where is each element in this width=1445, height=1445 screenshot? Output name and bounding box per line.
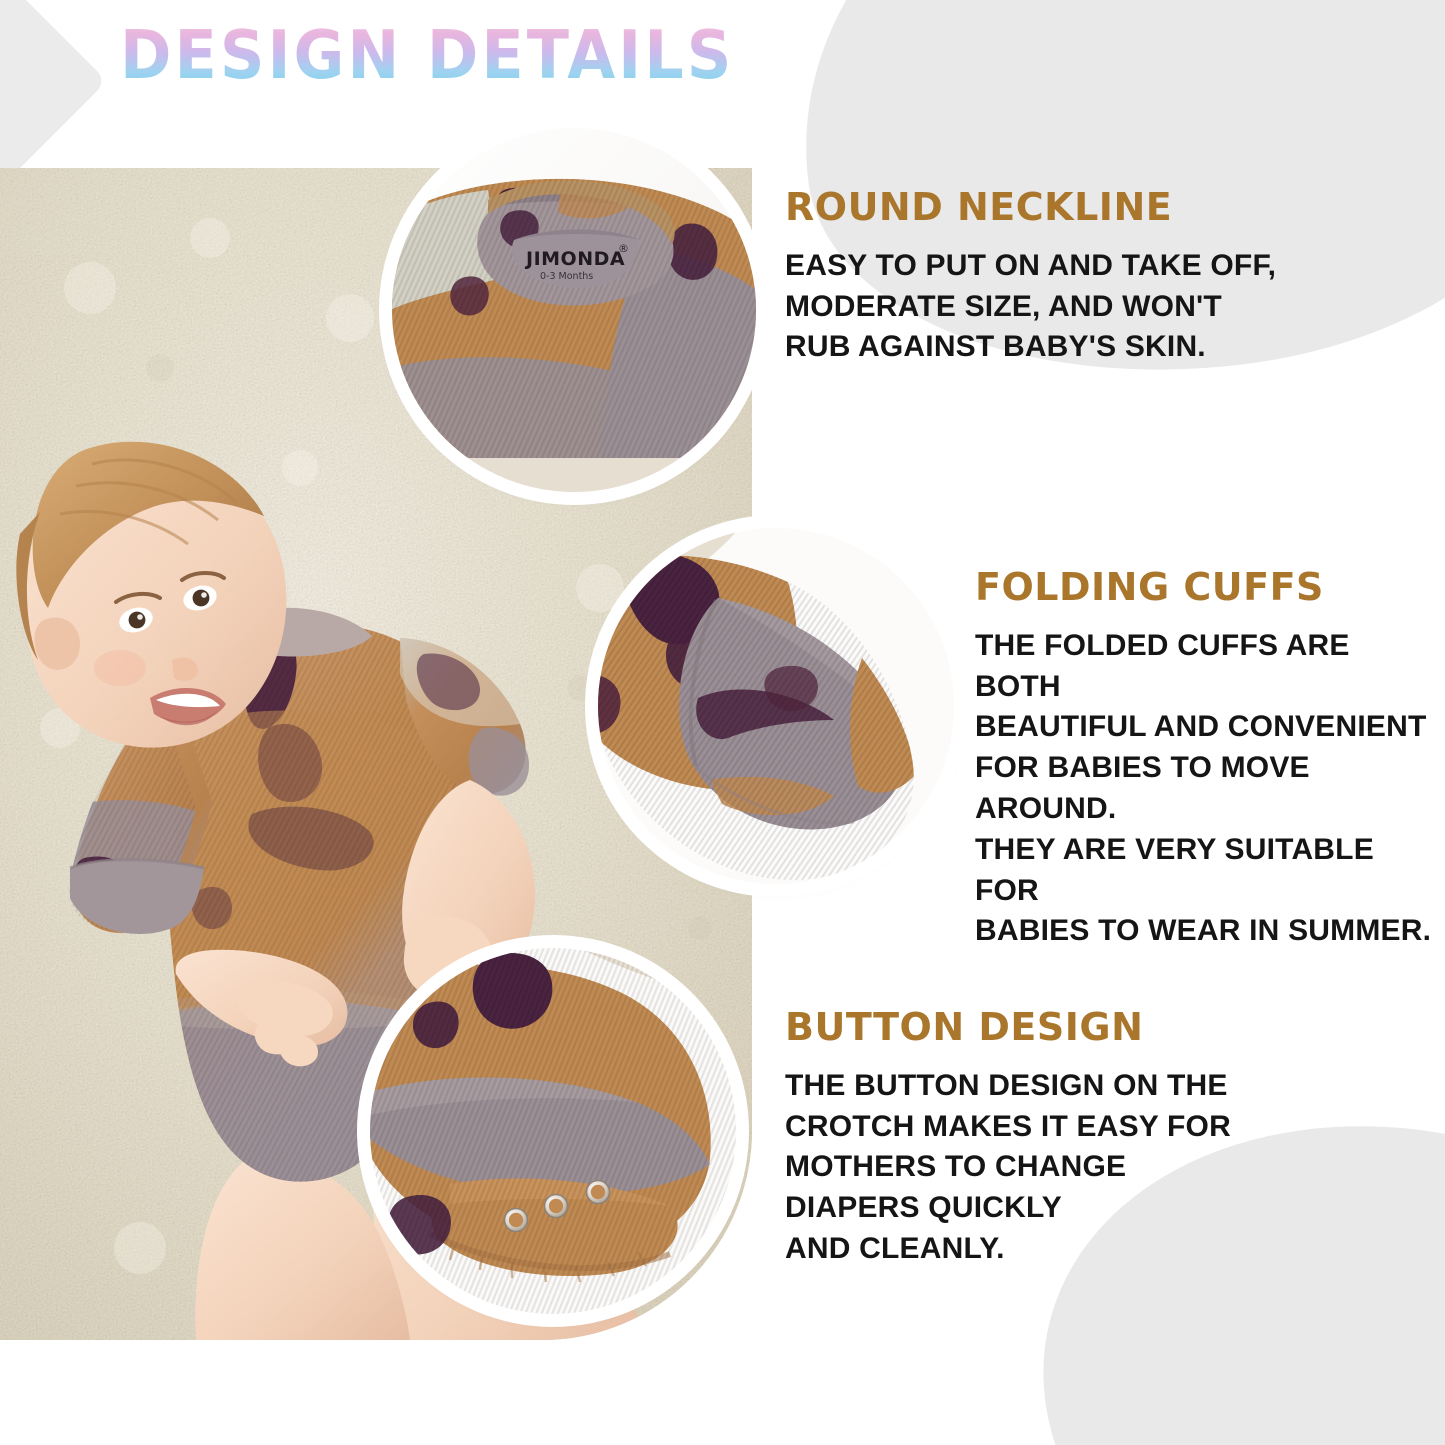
detail-circle-folding-cuffs [598,528,954,884]
button-illustration [370,948,736,1314]
cuff-illustration [598,528,954,884]
feature-body-folding-cuffs: THE FOLDED CUFFS ARE BOTH BEAUTIFUL AND … [975,626,1435,952]
feature-line: DIAPERS QUICKLY [785,1188,1255,1229]
feature-title-button-design: BUTTON DESIGN [785,1008,1255,1048]
feature-line: RUB AGAINST BABY'S SKIN. [785,327,1305,368]
feature-line: BEAUTIFUL AND CONVENIENT [975,707,1435,748]
brand-name: JIMONDA [524,248,625,270]
feature-line: THE BUTTON DESIGN ON THE [785,1066,1255,1107]
feature-button-design: BUTTON DESIGN THE BUTTON DESIGN ON THE C… [785,1008,1255,1270]
blob-left-diamond [0,0,107,187]
detail-circle-button-design [370,948,736,1314]
feature-title-round-neckline: ROUND NECKLINE [785,188,1305,228]
neckline-illustration: JIMONDA ® 0-3 Months [392,128,756,492]
feature-body-button-design: THE BUTTON DESIGN ON THE CROTCH MAKES IT… [785,1066,1255,1270]
infographic-stage: JIMONDA ® 0-3 Months [0,0,1445,1445]
feature-line: MODERATE SIZE, AND WON'T [785,287,1305,328]
brand-registered-mark: ® [618,242,629,255]
feature-line: BABIES TO WEAR IN SUMMER. [975,911,1435,952]
feature-folding-cuffs: FOLDING CUFFS THE FOLDED CUFFS ARE BOTH … [975,568,1435,952]
feature-line: AND CLEANLY. [785,1229,1255,1270]
feature-body-round-neckline: EASY TO PUT ON AND TAKE OFF, MODERATE SI… [785,246,1305,368]
detail-circle-round-neckline: JIMONDA ® 0-3 Months [392,128,756,492]
page-title: DESIGN DETAILS [120,22,734,89]
feature-line: CROTCH MAKES IT EASY FOR [785,1107,1255,1148]
feature-line: THE FOLDED CUFFS ARE BOTH [975,626,1435,708]
page-title-wrap: DESIGN DETAILS [120,22,734,84]
feature-line: FOR BABIES TO MOVE AROUND. [975,748,1435,830]
feature-line: EASY TO PUT ON AND TAKE OFF, [785,246,1305,287]
brand-size-label: 0-3 Months [540,271,593,282]
feature-round-neckline: ROUND NECKLINE EASY TO PUT ON AND TAKE O… [785,188,1305,368]
feature-line: THEY ARE VERY SUITABLE FOR [975,830,1435,912]
feature-line: MOTHERS TO CHANGE [785,1147,1255,1188]
feature-title-folding-cuffs: FOLDING CUFFS [975,568,1435,608]
